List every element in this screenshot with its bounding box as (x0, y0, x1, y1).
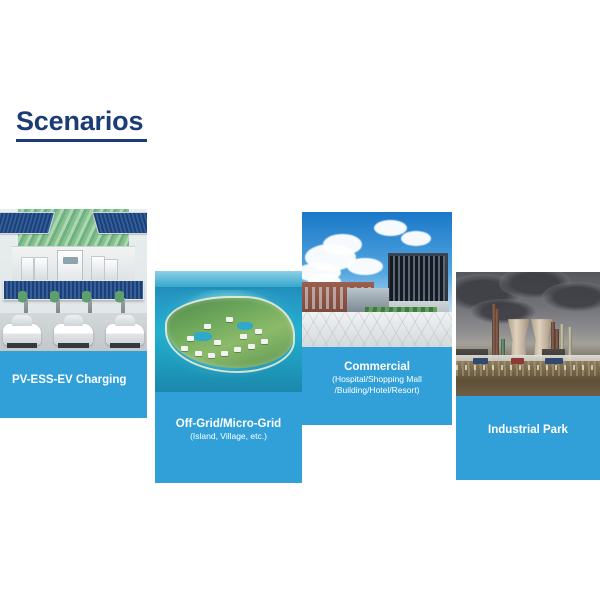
off-grid-micro-grid-caption: Off-Grid/Micro-Grid (Island, Village, et… (155, 392, 302, 483)
card-subtitle-line2: /Building/Hotel/Resort) (334, 385, 419, 396)
off-grid-micro-grid-image (155, 271, 302, 392)
scenario-card-industrial-park[interactable]: Industrial Park (456, 272, 600, 480)
card-title: Commercial (344, 360, 410, 374)
commercial-caption: Commercial (Hospital/Shopping Mall /Buil… (302, 347, 452, 425)
card-title: Off-Grid/Micro-Grid (176, 417, 281, 431)
industrial-park-caption: Industrial Park (456, 396, 600, 480)
title-underline (16, 139, 147, 142)
scenario-card-pv-ess-ev-charging[interactable]: PV-ESS-EV Charging (0, 209, 147, 418)
pv-ess-ev-charging-caption: PV-ESS-EV Charging (0, 351, 147, 418)
scenario-card-off-grid-micro-grid[interactable]: Off-Grid/Micro-Grid (Island, Village, et… (155, 271, 302, 483)
card-subtitle: (Island, Village, etc.) (190, 431, 267, 442)
scenario-card-commercial[interactable]: Commercial (Hospital/Shopping Mall /Buil… (302, 212, 452, 425)
page-title-block: Scenarios (16, 108, 147, 142)
card-subtitle-line1: (Hospital/Shopping Mall (332, 374, 422, 385)
card-title: PV-ESS-EV Charging (12, 373, 126, 387)
commercial-image (302, 212, 452, 347)
pv-ess-ev-charging-image (0, 209, 147, 351)
industrial-park-image (456, 272, 600, 396)
card-title: Industrial Park (488, 423, 568, 437)
page-title: Scenarios (16, 108, 147, 135)
